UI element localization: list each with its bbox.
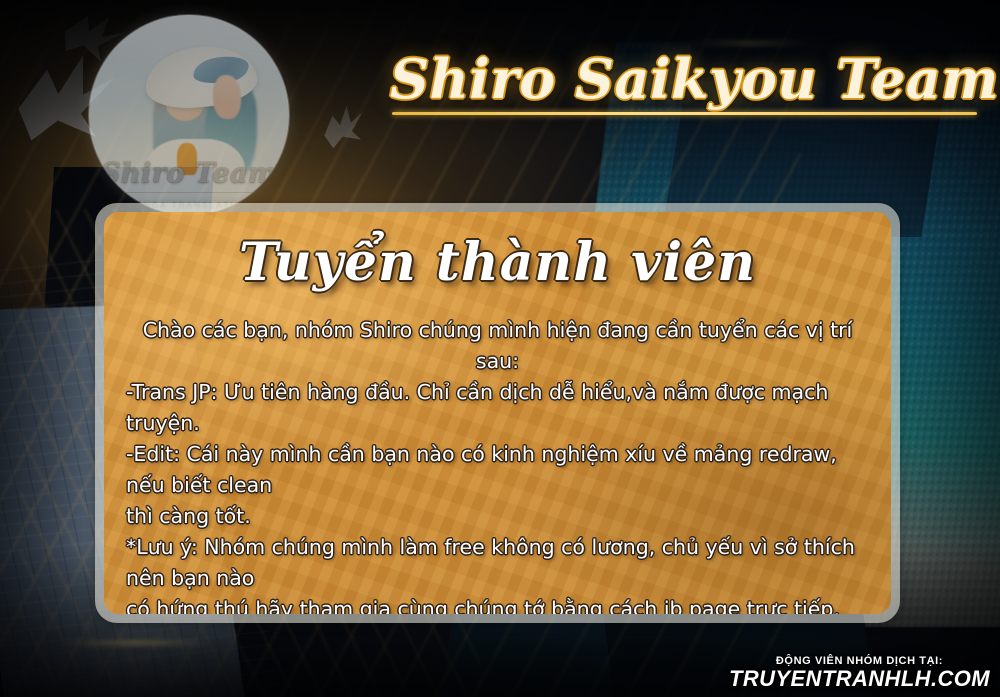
body-line: *Lưu ý: Nhóm chúng mình làm free không c…	[126, 532, 869, 594]
body-line: Chào các bạn, nhóm Shiro chúng mình hiện…	[126, 315, 869, 377]
logo-name: Shiro Team	[89, 158, 289, 189]
watermark-caption: ĐỘNG VIÊN NHÓM DỊCH TẠI:	[729, 655, 990, 667]
title-underline	[392, 112, 977, 115]
panel-body-text: Chào các bạn, nhóm Shiro chúng mình hiện…	[126, 315, 869, 614]
page-title: Shiro Saikyou Team	[390, 47, 980, 111]
body-line: thì càng tốt.	[126, 501, 869, 532]
site-watermark: ĐỘNG VIÊN NHÓM DỊCH TẠI: TRUYENTRANHLH.C…	[729, 655, 990, 691]
recruitment-panel-inner: Tuyển thành viên Chào các bạn, nhóm Shir…	[104, 212, 891, 614]
panel-heading: Tuyển thành viên	[104, 232, 891, 293]
body-line: -Edit: Cái này mình cần bạn nào có kinh …	[126, 439, 869, 501]
shiro-team-logo-badge: Shiro Team MANGA TRANSLATION	[88, 14, 290, 216]
body-line: -Trans JP: Ưu tiên hàng đầu. Chỉ cần dịc…	[126, 377, 869, 439]
poster-page: Shiro Team MANGA TRANSLATION Shiro Saiky…	[0, 0, 1000, 697]
recruitment-panel: Tuyển thành viên Chào các bạn, nhóm Shir…	[95, 203, 900, 623]
logo-divider	[111, 192, 267, 193]
watermark-site-name: TRUYENTRANHLH.COM	[729, 667, 990, 691]
body-line: có hứng thú hãy tham gia cùng chúng tớ b…	[126, 594, 869, 614]
